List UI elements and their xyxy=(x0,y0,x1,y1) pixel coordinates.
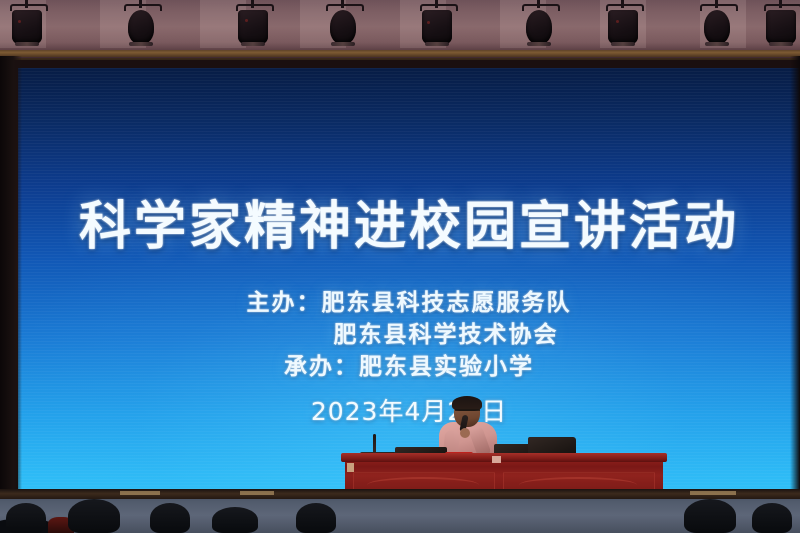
stage-light-icon xyxy=(764,0,798,50)
stage-edge-glint xyxy=(690,491,736,495)
audience-head xyxy=(684,499,736,533)
audience-head xyxy=(752,503,792,533)
slide-date: 2023年4月20日 xyxy=(18,392,800,428)
organizer-line-2: 肥东县科学技术协会 xyxy=(18,319,800,351)
stage-edge xyxy=(0,489,800,499)
audience-head xyxy=(150,503,190,533)
stage-light-icon xyxy=(606,0,640,50)
lighting-truss-bar xyxy=(0,50,800,57)
stage-light-icon xyxy=(522,0,556,50)
slide-organizer-block: 主办：肥东县科技志愿服务队 肥东县科学技术协会 承办：肥东县实验小学 xyxy=(18,287,800,383)
ceiling-wall-texture xyxy=(0,0,800,48)
audience-head xyxy=(6,503,46,533)
slide-title: 科学家精神进校园宣讲活动 xyxy=(18,184,800,259)
stage-edge-glint xyxy=(120,491,160,495)
podium-clip xyxy=(492,456,501,463)
organizer-line-1: 主办：肥东县科技志愿服务队 xyxy=(18,287,800,319)
projection-screen: 科学家精神进校园宣讲活动 主办：肥东县科技志愿服务队 肥东县科学技术协会 承办：… xyxy=(18,68,800,489)
stage-edge-glint xyxy=(240,491,274,495)
glasses-icon xyxy=(455,409,480,416)
right-wall-shadow xyxy=(790,56,800,496)
stage-light-icon xyxy=(236,0,270,50)
stage-light-icon xyxy=(124,0,158,50)
podium-top-surface xyxy=(341,453,667,462)
podium-clip xyxy=(347,463,354,472)
stage-light-icon xyxy=(700,0,734,50)
organizer-line-3: 承办：肥东县实验小学 xyxy=(18,351,800,383)
speaker-hand xyxy=(460,428,470,438)
stage-light-icon xyxy=(420,0,454,50)
audience-head xyxy=(212,507,258,533)
stage-light-icon xyxy=(326,0,360,50)
audience-head xyxy=(68,499,120,533)
auditorium-photo: 科学家精神进校园宣讲活动 主办：肥东县科技志愿服务队 肥东县科学技术协会 承办：… xyxy=(0,0,800,533)
left-wall-shadow xyxy=(0,56,22,496)
stage-light-icon xyxy=(10,0,44,50)
audience-head xyxy=(296,503,336,533)
